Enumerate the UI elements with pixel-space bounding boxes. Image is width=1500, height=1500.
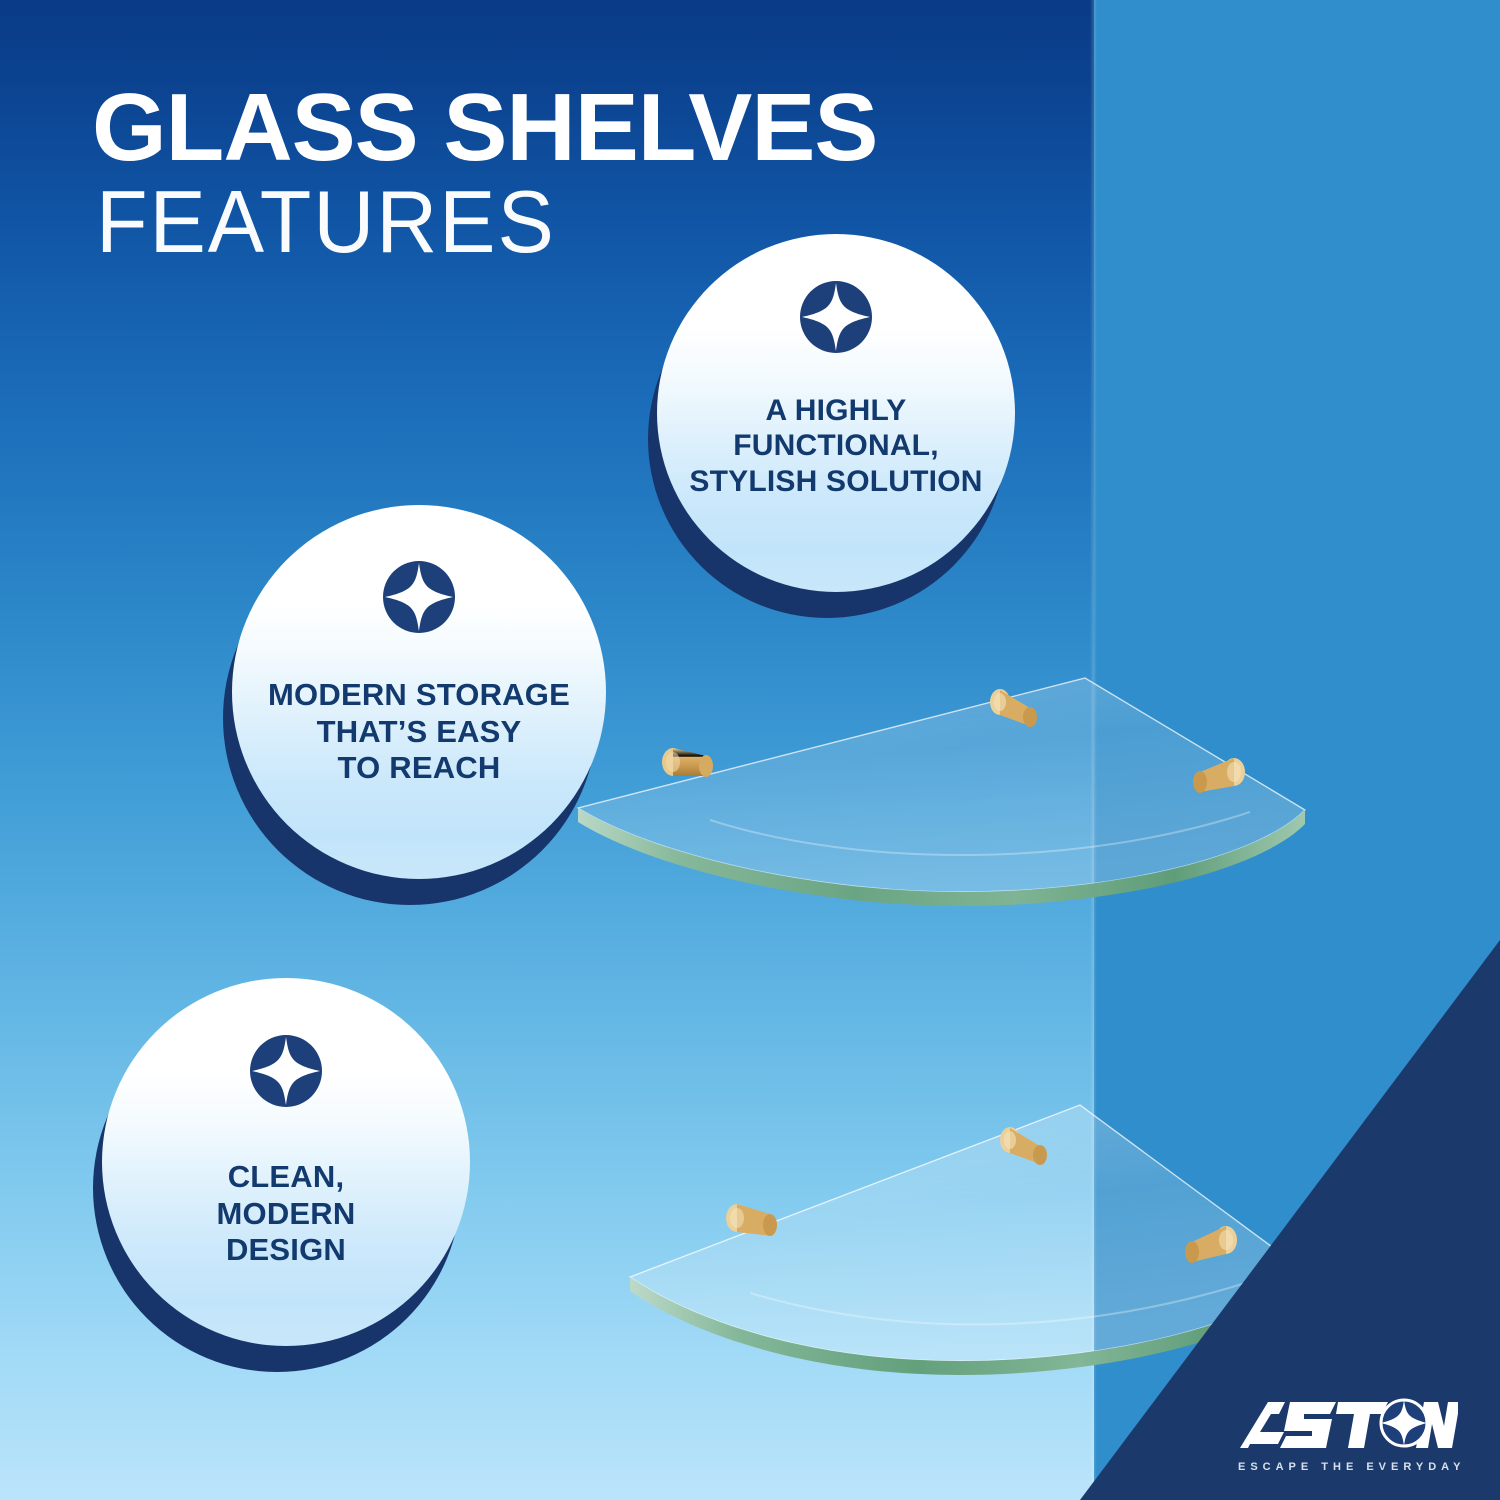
sparkle-star-icon <box>799 280 873 359</box>
feature-badge-modern-storage[interactable]: MODERN STORAGE THAT’S EASY TO REACH <box>232 505 606 879</box>
badge-disc: CLEAN, MODERN DESIGN <box>102 978 470 1346</box>
upper-shelf-bracket-top <box>986 686 1044 736</box>
logo-tagline: ESCAPE THE EVERYDAY <box>1238 1461 1458 1473</box>
aston-wordmark <box>1238 1396 1458 1456</box>
badge-disc: MODERN STORAGE THAT’S EASY TO REACH <box>232 505 606 879</box>
upper-shelf-bracket-left <box>658 740 720 790</box>
lower-shelf-bracket-left <box>722 1198 784 1250</box>
title-main: GLASS SHELVES <box>92 82 1052 174</box>
feature-badge-highly-functional[interactable]: A HIGHLY FUNCTIONAL, STYLISH SOLUTION <box>657 234 1015 592</box>
badge-disc: A HIGHLY FUNCTIONAL, STYLISH SOLUTION <box>657 234 1015 592</box>
badge-text: CLEAN, MODERN DESIGN <box>126 1159 446 1269</box>
lower-shelf-bracket-top <box>996 1126 1054 1176</box>
feature-badge-clean-design[interactable]: CLEAN, MODERN DESIGN <box>102 978 470 1346</box>
sparkle-star-icon <box>249 1034 323 1113</box>
lower-shelf-bracket-right <box>1178 1222 1240 1274</box>
sparkle-star-icon <box>382 560 456 639</box>
logo-sparkle-icon <box>1381 1400 1427 1446</box>
badge-text: MODERN STORAGE THAT’S EASY TO REACH <box>249 677 589 787</box>
badge-text: A HIGHLY FUNCTIONAL, STYLISH SOLUTION <box>676 393 996 499</box>
infographic-canvas: GLASS SHELVES FEATURES A HIGHLY FUNCTION… <box>0 0 1500 1500</box>
upper-shelf-bracket-right <box>1186 752 1248 804</box>
aston-logo: ESCAPE THE EVERYDAY <box>1238 1396 1458 1482</box>
